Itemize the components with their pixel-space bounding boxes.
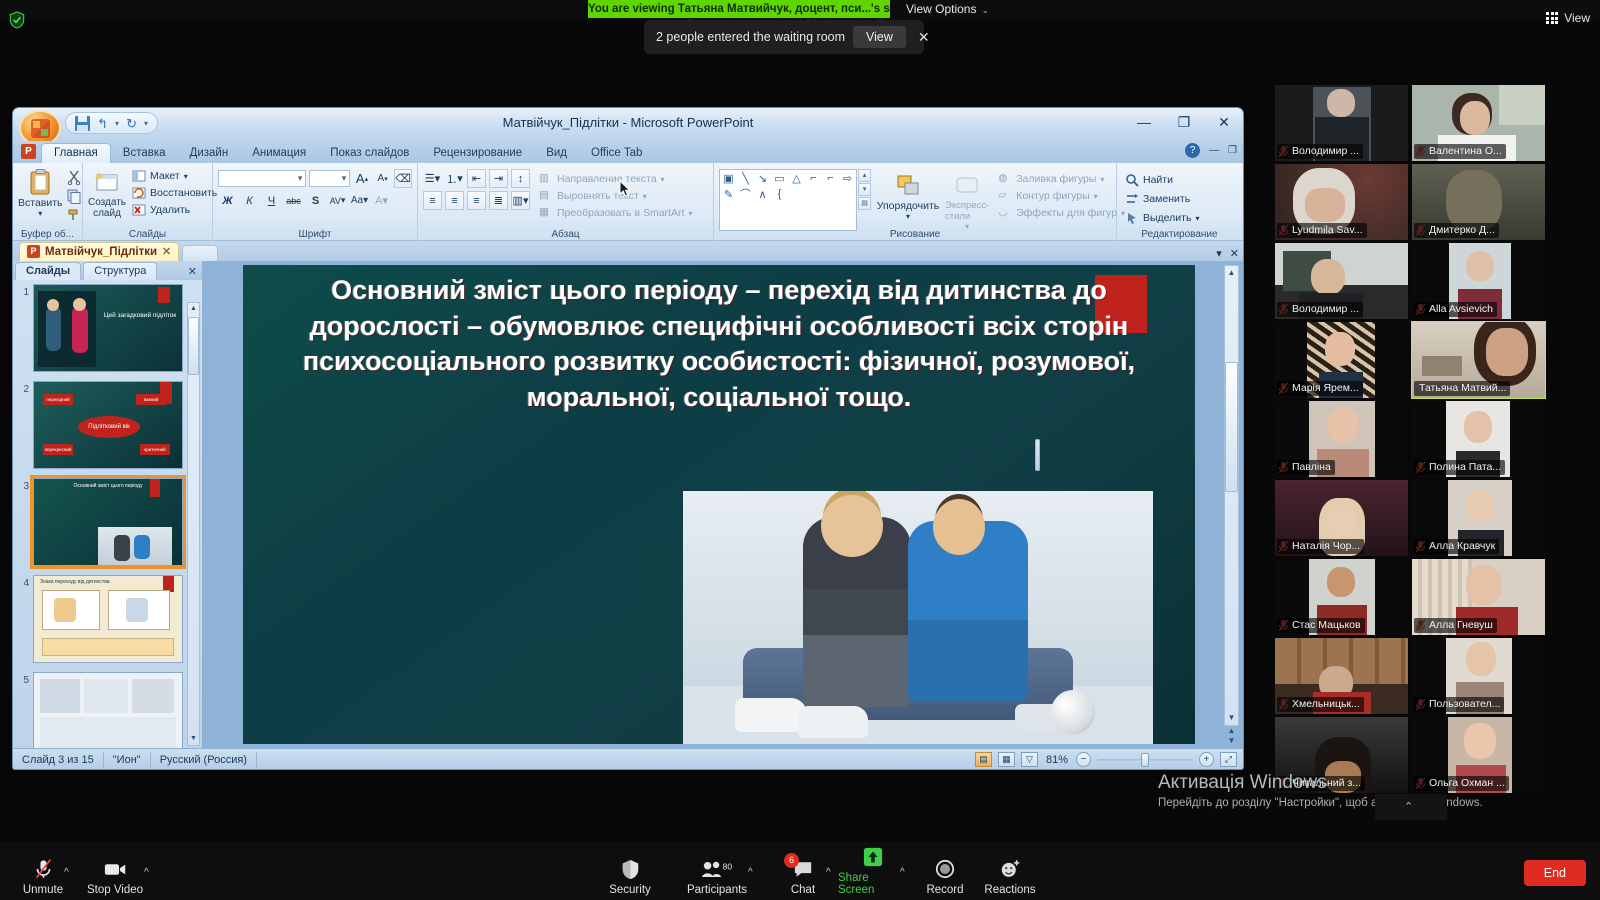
participant-tile[interactable]: Павліна	[1275, 401, 1408, 477]
align-left-button[interactable]: ≡	[423, 191, 442, 210]
mic-muted-icon	[34, 857, 53, 881]
font-color-label: A	[375, 195, 382, 207]
bullets-button[interactable]: ☰▾	[423, 169, 442, 188]
help-icon[interactable]: ?	[1185, 143, 1200, 158]
windows-activation-watermark: Активація Windows Перейдіть до розділу "…	[1158, 772, 1578, 809]
ribbon-group-font: ▾ ▾ A▴ A▾ ⌫ Ж К Ч abc S AV▾ Aa▾ A▾	[213, 163, 418, 241]
replace-button[interactable]: Заменить	[1122, 190, 1237, 208]
slide-thumbnail[interactable]	[33, 672, 183, 748]
zoom-in-button[interactable]: +	[1199, 752, 1214, 767]
drawing-group-label: Рисование	[714, 229, 1116, 240]
powerpoint-file-icon: P	[27, 245, 40, 258]
italic-label: К	[246, 195, 252, 207]
reactions-label: Reactions	[984, 884, 1035, 896]
columns-icon: ▥	[513, 194, 523, 207]
shape-effects-label: Эффекты для фигур	[1016, 207, 1117, 219]
previous-next-slide-buttons[interactable]: ▲▼	[1224, 726, 1239, 746]
ribbon-tab-strip: P Главная Вставка Дизайн Анимация Показ …	[13, 141, 1243, 163]
connector-shape-icon: ⌐	[822, 170, 839, 186]
arc-shape-icon: ∧	[754, 186, 771, 202]
convert-to-smartart-button[interactable]: ▦ Преобразовать в SmartArt▾	[536, 205, 695, 221]
replace-label: Заменить	[1143, 193, 1190, 205]
participants-label: Participants	[687, 884, 747, 896]
pane-tab-outline[interactable]: Структура	[83, 262, 157, 280]
office-tab-strip: P Матвійчук_Підлітки ✕ ▾ ✕	[13, 241, 1243, 261]
zoom-out-button[interactable]: −	[1076, 752, 1091, 767]
text-direction-button[interactable]: ▥ Направление текста▾	[536, 171, 695, 187]
arrange-button[interactable]: Упорядочить▾	[877, 169, 939, 231]
copy-icon[interactable]	[66, 188, 82, 204]
slide-thumbnail[interactable]: перехідний важкий перехресний критичний …	[33, 381, 183, 469]
document-tab[interactable]: P Матвійчук_Підлітки ✕	[19, 242, 179, 261]
share-options-chevron-icon[interactable]: ^	[900, 867, 905, 878]
participant-tile[interactable]: Alla Avsievich	[1412, 243, 1545, 319]
normal-view-button[interactable]: ▤	[975, 752, 992, 767]
participant-name: Марія Ярем...	[1277, 381, 1363, 396]
justify-button[interactable]: ≣	[489, 191, 508, 210]
shape-fill-icon: ◍	[998, 172, 1012, 186]
zoom-slider[interactable]	[1097, 753, 1193, 767]
thumbnail-number: 3	[17, 478, 29, 492]
layout-icon	[132, 169, 146, 183]
participant-tile[interactable]: Наталія Чор...	[1275, 480, 1408, 556]
security-label: Security	[609, 884, 651, 896]
shield-icon	[621, 857, 640, 881]
thumbnail-shape-label: перехресний	[43, 444, 73, 455]
zoom-percent[interactable]: 81%	[1044, 754, 1070, 766]
zoom-bottom-toolbar: Unmute ^ Stop Video ^ Security 80 Partic…	[0, 842, 1600, 900]
select-icon	[1125, 211, 1139, 225]
delete-icon	[132, 203, 146, 217]
chat-options-chevron-icon[interactable]: ^	[826, 867, 831, 878]
participant-tile[interactable]: Хмельницьк...	[1275, 638, 1408, 714]
line-shape-icon: ╲	[737, 170, 754, 186]
slides-outline-pane: Слайды Структура ✕ 1	[13, 261, 203, 748]
bullet-list-icon: ☰	[425, 172, 435, 185]
format-painter-icon[interactable]	[66, 207, 82, 223]
shape-effects-icon: ◡	[998, 206, 1012, 220]
change-case-button[interactable]: Aa▾	[350, 191, 369, 210]
increase-indent-icon: ⇥	[494, 172, 503, 185]
document-window-controls: ▾ ✕	[1216, 247, 1239, 260]
document-tab-label: Матвійчук_Підлітки	[45, 246, 157, 258]
participant-tile[interactable]: Стас Мацьков	[1275, 559, 1408, 635]
ribbon-body: Вставить ▾ Буфер об...	[13, 163, 1243, 241]
freeform-shape-icon: ✎	[720, 186, 737, 202]
chevron-down-icon: ⌄	[981, 5, 989, 15]
elbow-shape-icon: ⌐	[805, 170, 822, 186]
new-document-tab-button[interactable]	[182, 245, 218, 261]
photo-soccer-ball	[1051, 690, 1095, 734]
participant-tile[interactable]: Алла Гневуш	[1412, 559, 1545, 635]
close-icon[interactable]: ✕	[188, 265, 197, 278]
powerpoint-work-area: Слайды Структура ✕ 1	[13, 261, 1243, 748]
slide-thumbnail-list[interactable]: 1 Цей загадковий підліток 2	[13, 280, 202, 748]
layout-button[interactable]: Макет▾	[129, 168, 220, 184]
participant-video-grid: Володимир ... Валентина О... Lyudmila Sa…	[1275, 85, 1557, 800]
mouse-cursor	[619, 180, 631, 198]
paste-icon	[26, 168, 54, 196]
ribbon-group-editing: Найти Заменить Выделить▾ Редактирование	[1117, 163, 1242, 241]
align-center-button[interactable]: ≡	[445, 191, 464, 210]
end-meeting-button[interactable]: End	[1524, 860, 1586, 886]
slide-thumbnail[interactable]: Знаки переходу від дитинства	[33, 575, 183, 663]
shape-outline-icon: ▱	[998, 189, 1012, 203]
align-text-button[interactable]: ▤ Выровнять текст▾	[536, 188, 695, 204]
reset-label: Восстановить	[150, 187, 217, 199]
strikethrough-button[interactable]: abc	[284, 191, 303, 210]
text-direction-label: Направление текста	[557, 173, 657, 185]
slide-counter: Слайд 3 из 15	[13, 752, 104, 768]
smartart-icon: ▦	[539, 206, 553, 220]
participants-options-chevron-icon[interactable]: ^	[748, 867, 753, 878]
thumbnail-number: 2	[17, 381, 29, 395]
align-left-icon: ≡	[429, 195, 435, 207]
bold-label: Ж	[222, 195, 232, 207]
close-icon[interactable]: ✕	[162, 245, 171, 258]
scroll-up-icon[interactable]: ▲	[1225, 266, 1238, 280]
shape-outline-label: Контур фигуры	[1016, 190, 1089, 202]
strikethrough-label: abc	[286, 196, 301, 206]
tab-office-tab[interactable]: Office Tab	[579, 144, 654, 163]
powerpoint-title-bar: ↰ ▾ ↻ ▾ Матвійчук_Підлітки - Microsoft P…	[13, 108, 1243, 141]
document-close-icon[interactable]: ✕	[1230, 247, 1239, 260]
slideshow-view-button[interactable]: ▽	[1021, 752, 1038, 767]
window-title: Матвійчук_Підлітки - Microsoft PowerPoin…	[13, 115, 1243, 130]
slides-group-label: Слайды	[83, 229, 212, 240]
tab-design[interactable]: Дизайн	[178, 144, 241, 163]
bold-button[interactable]: Ж	[218, 191, 237, 210]
share-screen-label: Share Screen	[838, 872, 908, 896]
ribbon-minimize-icon[interactable]: —	[1209, 145, 1219, 156]
line-spacing-icon: ↕	[518, 173, 524, 185]
find-icon	[1125, 173, 1139, 187]
slide-sorter-button[interactable]: ▦	[998, 752, 1015, 767]
svg-text:80: 80	[723, 861, 733, 871]
participant-name: Наталія Чор...	[1277, 539, 1364, 554]
share-up-arrow-icon	[863, 845, 883, 869]
quick-styles-label: Экспресс-стили	[945, 200, 989, 222]
scroll-down-icon[interactable]: ▼	[1225, 711, 1238, 725]
chat-bubble-icon: 6	[793, 857, 813, 881]
participant-name: Lyudmila Sav...	[1277, 223, 1367, 238]
layout-label: Макет	[150, 170, 180, 182]
list-item[interactable]: 1 Цей загадковий підліток	[17, 284, 202, 372]
reset-button[interactable]: Восстановить	[129, 185, 220, 201]
photo-shoe-right	[798, 706, 868, 738]
participant-name: Стас Мацьков	[1277, 618, 1365, 633]
record-circle-icon	[935, 857, 955, 881]
participant-name: Татьяна Матвий...	[1414, 381, 1510, 396]
grow-font-label: A	[356, 171, 365, 186]
align-text-icon: ▤	[539, 189, 553, 203]
shape-outline-button[interactable]: ▱ Контур фигуры▾	[995, 188, 1128, 204]
camera-icon	[104, 857, 127, 881]
clear-formatting-button[interactable]: ⌫	[394, 169, 412, 188]
quick-styles-icon	[953, 171, 981, 199]
shape-fill-button[interactable]: ◍ Заливка фигуры▾	[995, 171, 1128, 187]
zoom-slider-knob[interactable]	[1141, 753, 1149, 767]
smiley-plus-icon	[1000, 857, 1021, 881]
slide-photo[interactable]	[683, 491, 1153, 744]
photo-boy-head	[821, 495, 883, 557]
tab-insert[interactable]: Вставка	[111, 144, 178, 163]
character-spacing-label: AV	[330, 196, 341, 206]
stop-video-button[interactable]: Stop Video	[80, 857, 150, 896]
slide-vertical-scrollbar[interactable]: ▲ ▼	[1224, 265, 1239, 726]
participant-name: Полина Пата...	[1414, 460, 1505, 475]
arrow-right-shape-icon: ⇨	[839, 170, 856, 186]
slide-body-text[interactable]: Основний зміст цього періоду – перехід в…	[261, 273, 1177, 416]
record-label: Record	[926, 884, 963, 896]
tab-animation[interactable]: Анимация	[240, 144, 318, 163]
activation-title: Активація Windows	[1158, 772, 1578, 794]
powerpoint-app-icon: P	[21, 144, 36, 159]
thumbnail-number: 1	[17, 284, 29, 298]
delete-label: Удалить	[150, 204, 190, 216]
shapes-more-icon[interactable]: ▤	[858, 197, 871, 210]
chat-unread-badge: 6	[784, 853, 799, 868]
chevron-up-icon[interactable]: ⌃	[1404, 800, 1413, 813]
align-right-icon: ≡	[473, 195, 479, 207]
paste-button[interactable]: Вставить ▾	[18, 166, 63, 218]
new-slide-button[interactable]: Создать слайд	[88, 166, 126, 219]
mic-options-chevron-icon[interactable]: ^	[64, 867, 69, 878]
thumbnail-shape-label: Підлітковий вік	[78, 416, 140, 438]
ribbon-group-drawing: ▣╲↘▭ △⌐⌐⇨ ✎⌒∧{ ▴ ▾ ▤ Упорядочить▾	[714, 163, 1117, 241]
italic-button[interactable]: К	[240, 191, 259, 210]
ribbon-group-paragraph: ☰▾ ⒈▾ ⇤ ⇥ ↕ ≡ ≡ ≡ ≣ ▥▾	[418, 163, 714, 241]
participant-tile-active-speaker[interactable]: Татьяна Матвий...	[1412, 322, 1545, 398]
thumbnail-number: 4	[17, 575, 29, 589]
scrollbar-thumb[interactable]	[1225, 362, 1238, 492]
participant-tile[interactable]: Полина Пата...	[1412, 401, 1545, 477]
participant-tile[interactable]: Пользовател...	[1412, 638, 1545, 714]
thumbnail-scrollbar[interactable]: ▲ ▼	[187, 302, 200, 746]
grow-font-button[interactable]: A▴	[353, 169, 371, 188]
share-screen-button[interactable]: Share Screen	[838, 845, 908, 896]
smartart-label: Преобразовать в SmartArt	[557, 207, 684, 219]
fit-to-window-button[interactable]: ⤢	[1220, 752, 1237, 767]
minimize-button[interactable]: —	[1131, 112, 1157, 132]
shapes-gallery[interactable]: ▣╲↘▭ △⌐⌐⇨ ✎⌒∧{	[719, 169, 857, 231]
reset-icon	[132, 186, 146, 200]
pane-splitter-handle[interactable]	[1035, 439, 1040, 471]
participant-name: Алла Кравчук	[1414, 539, 1499, 554]
participant-tile[interactable]: Марія Ярем...	[1275, 322, 1408, 398]
participant-tile[interactable]: Володимир ...	[1275, 85, 1408, 161]
screen-share-banner: You are viewing Татьяна Матвийчук, доцен…	[588, 0, 890, 18]
language-indicator[interactable]: Русский (Россия)	[151, 752, 257, 768]
columns-button[interactable]: ▥▾	[511, 191, 530, 210]
thumbnail-title: Знаки переходу від дитинства	[40, 579, 158, 585]
photo-man-head	[933, 499, 985, 555]
reactions-button[interactable]: Reactions	[975, 857, 1045, 896]
participant-tile[interactable]: Валентина О...	[1412, 85, 1545, 161]
participant-name: Alla Avsievich	[1414, 302, 1497, 317]
mute-label: Unmute	[23, 884, 63, 896]
quick-styles-button[interactable]: Экспресс-стили▾	[945, 169, 989, 231]
document-restore-icon[interactable]: ❐	[1228, 145, 1237, 156]
editing-group-label: Редактирование	[1117, 229, 1242, 240]
ribbon-group-clipboard: Вставить ▾ Буфер об...	[13, 163, 83, 241]
scroll-down-icon[interactable]: ▼	[188, 733, 199, 745]
thumbnail-title: Цей загадковий підліток	[102, 311, 178, 321]
participant-name: Валентина О...	[1414, 144, 1506, 159]
close-icon[interactable]: ✕	[914, 30, 934, 44]
text-direction-icon: ▥	[539, 172, 553, 186]
participant-name: Алла Гневуш	[1414, 618, 1497, 633]
security-button[interactable]: Security	[595, 857, 665, 896]
tab-view[interactable]: Вид	[534, 144, 579, 163]
paste-label: Вставить	[18, 197, 63, 209]
slide-editing-area[interactable]: Основний зміст цього періоду – перехід в…	[203, 261, 1243, 748]
arrow-shape-icon: ↘	[754, 170, 771, 186]
close-button[interactable]: ✕	[1211, 112, 1237, 132]
align-right-button[interactable]: ≡	[467, 191, 486, 210]
font-name-combo[interactable]: ▾	[218, 170, 306, 187]
current-slide[interactable]: Основний зміст цього періоду – перехід в…	[243, 265, 1195, 744]
select-button[interactable]: Выделить▾	[1122, 209, 1237, 227]
slide-thumbnail[interactable]: Цей загадковий підліток	[33, 284, 183, 372]
underline-label: Ч	[268, 195, 275, 207]
shapes-scroll-down-icon[interactable]: ▾	[858, 183, 871, 196]
list-item[interactable]: 3 Основний зміст цього періоду	[17, 478, 202, 566]
participant-name: Дмитерко Д...	[1414, 223, 1499, 238]
scrollbar-thumb[interactable]	[188, 317, 199, 375]
waiting-room-view-button[interactable]: View	[853, 26, 906, 48]
paste-dropdown-icon[interactable]: ▾	[38, 209, 42, 218]
select-label: Выделить	[1143, 212, 1191, 224]
participant-tile[interactable]: Володимир ...	[1275, 243, 1408, 319]
font-color-button[interactable]: A▾	[372, 191, 391, 210]
arrange-icon	[894, 171, 922, 199]
powerpoint-status-bar: Слайд 3 из 15 "Ион" Русский (Россия) ▤ ▦…	[13, 748, 1243, 770]
thumbnail-shape-label: критичний	[140, 444, 170, 455]
rect-shape-icon: ▭	[771, 170, 788, 186]
curve-shape-icon: ⌒	[737, 186, 754, 202]
shape-fill-label: Заливка фигуры	[1016, 173, 1096, 185]
character-spacing-button[interactable]: AV▾	[328, 191, 347, 210]
text-shadow-button[interactable]: S	[306, 191, 325, 210]
document-scroll-down-icon[interactable]: ▾	[1216, 247, 1222, 260]
theme-name[interactable]: "Ион"	[104, 752, 151, 768]
delete-slide-button[interactable]: Удалить	[129, 202, 220, 218]
clipboard-group-label: Буфер об...	[13, 229, 82, 240]
shapes-scroll-up-icon[interactable]: ▴	[858, 169, 871, 182]
thumbnail-shape-label: важкий	[136, 394, 166, 405]
record-button[interactable]: Record	[910, 857, 980, 896]
participants-button[interactable]: 80 Participants	[682, 857, 752, 896]
clear-format-icon: ⌫	[395, 172, 411, 185]
find-button[interactable]: Найти	[1122, 171, 1237, 189]
slide-thumbnail[interactable]: Основний зміст цього періоду	[33, 478, 183, 566]
restore-button[interactable]: ❐	[1171, 112, 1197, 132]
decrease-indent-icon: ⇤	[472, 172, 481, 185]
list-item[interactable]: 5	[17, 672, 202, 748]
scroll-up-icon[interactable]: ▲	[188, 303, 199, 315]
grid-icon	[1546, 12, 1558, 24]
change-case-label: Aa	[351, 195, 363, 206]
tab-review[interactable]: Рецензирование	[421, 144, 534, 163]
participant-tile[interactable]: Алла Кравчук	[1412, 480, 1545, 556]
align-center-icon: ≡	[451, 195, 457, 207]
photo-shoe-left	[735, 698, 807, 732]
view-options-button[interactable]: View Options⌄	[898, 0, 997, 18]
justify-icon: ≣	[494, 194, 503, 207]
underline-button[interactable]: Ч	[262, 191, 281, 210]
participant-name: Хмельницьк...	[1277, 697, 1364, 712]
text-shadow-label: S	[312, 195, 319, 207]
shrink-font-button[interactable]: A▾	[374, 169, 392, 188]
tab-slideshow[interactable]: Показ слайдов	[318, 144, 421, 163]
view-layout-label: View	[1564, 11, 1590, 25]
waiting-room-toast: 2 people entered the waiting room View ✕	[644, 20, 924, 54]
thumbnail-title: Основний зміст цього періоду	[44, 483, 172, 490]
participant-name: Володимир ...	[1277, 302, 1363, 317]
new-slide-label: Создать слайд	[88, 197, 126, 219]
powerpoint-window: ↰ ▾ ↻ ▾ Матвійчук_Підлітки - Microsoft P…	[12, 107, 1244, 770]
stop-video-label: Stop Video	[87, 884, 143, 896]
font-group-label: Шрифт	[213, 229, 417, 240]
brace-shape-icon: {	[771, 186, 788, 202]
people-icon: 80	[701, 857, 733, 881]
line-spacing-button[interactable]: ↕	[511, 169, 530, 188]
paragraph-group-label: Абзац	[418, 229, 713, 240]
participant-name: Володимир ...	[1277, 144, 1363, 159]
participant-name: Павліна	[1277, 460, 1335, 475]
thumbnail-shape-label: перехідний	[43, 394, 73, 405]
waiting-room-message: 2 people entered the waiting room	[656, 30, 845, 44]
chat-label: Chat	[791, 884, 815, 896]
ribbon-group-slides: Создать слайд Макет▾ Восстановить	[83, 163, 213, 241]
pane-tab-strip: Слайды Структура ✕	[13, 261, 202, 280]
thumbnail-number: 5	[17, 672, 29, 686]
decrease-indent-button[interactable]: ⇤	[467, 169, 486, 188]
window-controls: — ❐ ✕	[1131, 112, 1237, 132]
participant-tile[interactable]: Lyudmila Sav...	[1275, 164, 1408, 240]
participant-tile[interactable]: Дмитерко Д...	[1412, 164, 1545, 240]
font-size-combo[interactable]: ▾	[309, 170, 350, 187]
activation-subtitle: Перейдіть до розділу "Настройки", щоб ак…	[1158, 797, 1578, 809]
view-options-label: View Options	[906, 2, 976, 16]
arrange-label: Упорядочить	[877, 200, 939, 212]
video-options-chevron-icon[interactable]: ^	[144, 867, 149, 878]
textbox-shape-icon: ▣	[720, 170, 737, 186]
tab-home[interactable]: Главная	[41, 143, 111, 163]
increase-indent-button[interactable]: ⇥	[489, 169, 508, 188]
list-item[interactable]: 4 Знаки переходу від дитинства	[17, 575, 202, 663]
ribbon-right-controls: ? — ❐	[1185, 143, 1237, 158]
numbering-button[interactable]: ⒈▾	[445, 169, 464, 188]
triangle-shape-icon: △	[788, 170, 805, 186]
view-layout-button[interactable]: View	[1546, 8, 1590, 28]
shape-effects-button[interactable]: ◡ Эффекты для фигур▾	[995, 205, 1128, 221]
shrink-font-label: A	[378, 173, 385, 184]
status-bar-right: ▤ ▦ ▽ 81% − + ⤢	[975, 752, 1237, 767]
pane-tab-slides[interactable]: Слайды	[15, 262, 81, 280]
new-slide-icon	[93, 168, 121, 196]
cut-icon[interactable]	[66, 169, 82, 185]
zoom-top-bar: Remaining meeting time 9:03 | Upgrade to…	[0, 0, 1600, 20]
participant-name: Пользовател...	[1414, 697, 1504, 712]
find-label: Найти	[1143, 174, 1173, 186]
numbered-list-icon: ⒈	[446, 171, 457, 187]
list-item[interactable]: 2 перехідний важкий перехресний критични…	[17, 381, 202, 469]
replace-icon	[1125, 192, 1139, 206]
meeting-encryption-shield-icon[interactable]	[8, 10, 26, 30]
